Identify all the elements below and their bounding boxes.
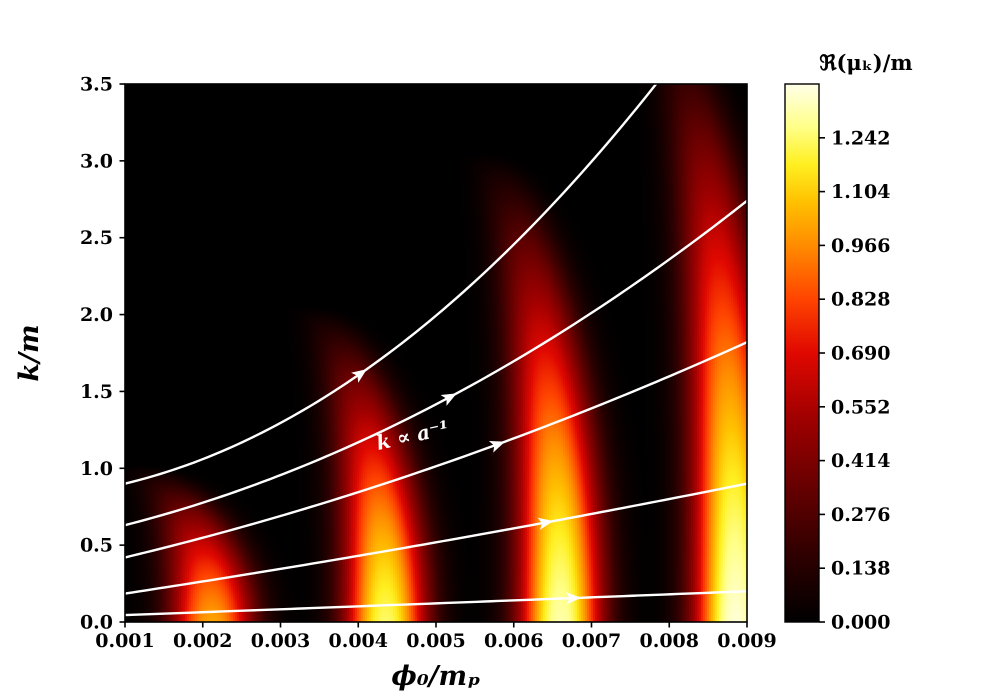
x-tick-label: 0.004	[329, 630, 389, 652]
colorbar-tick-label: 0.000	[831, 612, 891, 634]
y-axis-label: k/m	[14, 324, 45, 381]
x-tick-label: 0.006	[484, 630, 544, 652]
x-tick-label: 0.009	[717, 630, 777, 652]
colorbar-tick-label: 1.104	[831, 181, 891, 203]
colorbar-tick-label: 0.414	[831, 450, 891, 472]
heatmap-axes: k ∝ a⁻¹ 0.0010.0020.0030.0040.0050.0060.…	[14, 0, 777, 692]
x-axis-label: ϕ₀/mₚ	[391, 661, 480, 692]
colorbar-tick-label: 1.242	[831, 127, 891, 149]
y-tick-label: 1.0	[80, 458, 113, 480]
y-tick-label: 2.0	[80, 304, 113, 326]
resonance-heatmap-figure: k ∝ a⁻¹ 0.0010.0020.0030.0040.0050.0060.…	[0, 0, 1000, 700]
y-tick-label: 0.5	[80, 535, 113, 557]
y-tick-label: 3.5	[80, 74, 113, 96]
colorbar-tick-label: 0.690	[831, 343, 891, 365]
colorbar-label: ℜ(μₖ)/m	[819, 50, 912, 75]
y-tick-label: 2.5	[80, 227, 113, 249]
x-tick-label: 0.007	[562, 630, 622, 652]
colorbar-tick-label: 0.276	[831, 504, 891, 526]
x-tick-label: 0.005	[406, 630, 466, 652]
y-tick-label: 3.0	[80, 150, 113, 172]
colorbar-tick-label: 0.138	[831, 558, 891, 580]
colorbar-gradient	[785, 84, 819, 622]
y-tick-label: 1.5	[80, 381, 113, 403]
y-tick-label: 0.0	[80, 612, 113, 634]
colorbar-tick-label: 0.552	[831, 396, 891, 418]
colorbar-tick-label: 0.828	[831, 289, 891, 311]
colorbar-tick-label: 0.966	[831, 235, 891, 257]
x-tick-label: 0.002	[173, 630, 233, 652]
x-tick-label: 0.003	[251, 630, 311, 652]
x-tick-label: 0.008	[640, 630, 700, 652]
